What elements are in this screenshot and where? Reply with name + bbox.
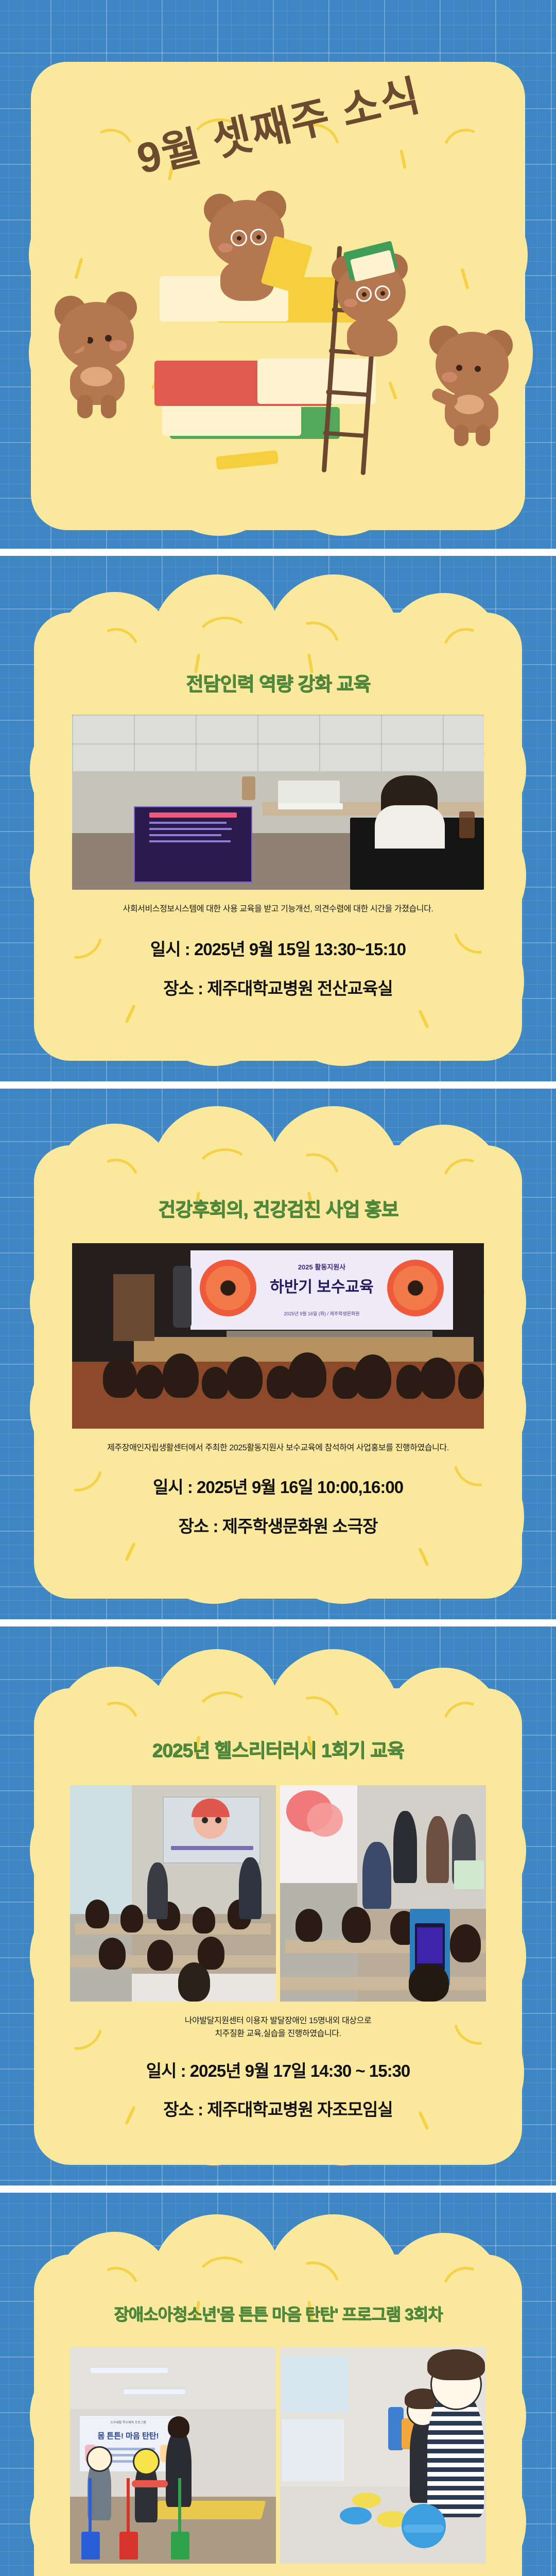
card-divider xyxy=(0,1619,556,1626)
photo-banner-line-1: 소아재활 특수체육 프로그램 xyxy=(89,2420,167,2425)
card-3-date-label: 일시 xyxy=(146,2061,177,2080)
card-1-meta: 일시 : 2025년 9월 15일 13:30~15:10 장소 : 제주대학교… xyxy=(0,937,556,1001)
card-3-place: 장소 : 제주대학교병원 자조모임실 xyxy=(0,2097,556,2123)
card-2-photo-row: 2025 활동지원사 하반기 보수교육 2025년 9월 16일 (화) / 제… xyxy=(0,1243,556,1429)
card-4-photo-row: 소아재활 특수체육 프로그램 몸 튼튼! 마음 탄탄! xyxy=(0,2347,556,2564)
card-divider xyxy=(0,549,556,556)
card-1-photo-row xyxy=(0,715,556,890)
photo-banner-line-2: 몸 튼튼! 마음 탄탄! xyxy=(83,2430,173,2441)
card-1-caption-line-1: 사회서비스정보시스템에 대한 사용 교육을 받고 기능개선, 의견수렴에 대한 … xyxy=(0,903,556,916)
card-3-place-label: 장소 xyxy=(163,2100,194,2119)
card-1-date-value: 2025년 9월 15일 13:30~15:10 xyxy=(194,940,406,959)
card-3-caption-line-1: 나야발달지원센터 이용자 발달장애인 15명내외 대상으로 xyxy=(0,2015,556,2028)
health-literacy-practice-photo xyxy=(280,1785,486,2002)
card-divider xyxy=(0,1081,556,1089)
card-2-place: 장소 : 제주학생문화원 소극장 xyxy=(0,1514,556,1539)
card-divider xyxy=(0,2185,556,2193)
card-3-title: 2025년 헬스리터러시 1회기 교육 xyxy=(0,1739,556,1762)
bear-reading-icon xyxy=(201,191,304,304)
program-session-activity-photo xyxy=(280,2347,486,2564)
news-card-3: 2025년 헬스리터러시 1회기 교육 xyxy=(0,1626,556,2185)
card-1-datetime: 일시 : 2025년 9월 15일 13:30~15:10 xyxy=(0,937,556,962)
card-3-meta: 일시 : 2025년 9월 17일 14:30 ~ 15:30 장소 : 제주대… xyxy=(0,2058,556,2123)
auditorium-lecture-photo: 2025 활동지원사 하반기 보수교육 2025년 9월 16일 (화) / 제… xyxy=(72,1243,484,1429)
bear-standing-icon xyxy=(427,314,520,443)
card-2-datetime: 일시 : 2025년 9월 16일 10:00,16:00 xyxy=(0,1475,556,1500)
computer-training-room-photo xyxy=(72,715,484,890)
bear-on-ladder-icon xyxy=(329,242,427,361)
card-2-date-value: 2025년 9월 16일 10:00,16:00 xyxy=(197,1478,403,1497)
news-card-4: 장애소아청소년'몸 튼튼 마음 탄탄' 프로그램 3회차 소아재활 특수체육 프… xyxy=(0,2193,556,2576)
card-2-caption-line-1: 제주장애인자립생활센터에서 주최한 2025활동지원사 보수교육에 참석하여 사… xyxy=(0,1442,556,1455)
card-3-place-value: 제주대학교병원 자조모임실 xyxy=(207,2100,393,2119)
card-2-title: 건강후회의, 건강검진 사업 홍보 xyxy=(0,1198,556,1222)
card-2-place-label: 장소 xyxy=(179,1517,209,1536)
card-3-photo-row xyxy=(0,1785,556,2002)
card-3-datetime: 일시 : 2025년 9월 17일 14:30 ~ 15:30 xyxy=(0,2058,556,2084)
card-2-place-value: 제주학생문화원 소극장 xyxy=(222,1517,378,1536)
news-card-2: 건강후회의, 건강검진 사업 홍보 2025 활동지원사 하반기 보수교육 20… xyxy=(0,1089,556,1619)
card-3-date-value: 2025년 9월 17일 14:30 ~ 15:30 xyxy=(190,2061,410,2080)
banner-line-3: 2025년 9월 16일 (화) / 제주학생문화원 xyxy=(268,1310,376,1317)
card-4-title: 장애소아청소년'몸 튼튼 마음 탄탄' 프로그램 3회차 xyxy=(0,2304,556,2325)
card-1-title: 전담인력 역량 강화 교육 xyxy=(0,672,556,696)
cover-card: 9월 셋째주 소식 xyxy=(0,0,556,549)
card-1-place-label: 장소 xyxy=(163,979,194,998)
pencil-icon xyxy=(216,450,279,470)
cover-title-wrap: 9월 셋째주 소식 xyxy=(0,93,556,154)
card-1-place: 장소 : 제주대학교병원 전산교육실 xyxy=(0,976,556,1002)
card-1-place-value: 제주대학교병원 전산교육실 xyxy=(207,979,393,998)
card-3-caption-line-2: 치주질환 교육,실습을 진행하였습니다. xyxy=(0,2028,556,2041)
news-card-1: 전담인력 역량 강화 교육 xyxy=(0,556,556,1081)
bear-waving-icon xyxy=(51,289,144,417)
card-1-date-label: 일시 xyxy=(150,940,181,959)
banner-line-1: 2025 활동지원사 xyxy=(268,1262,376,1272)
card-2-meta: 일시 : 2025년 9월 16일 10:00,16:00 장소 : 제주학생문… xyxy=(0,1475,556,1539)
newsletter-page: 9월 셋째주 소식 xyxy=(0,0,556,2576)
banner-line-2: 하반기 보수교육 xyxy=(268,1274,376,1297)
card-2-date-label: 일시 xyxy=(153,1478,183,1497)
program-session-group-photo: 소아재활 특수체육 프로그램 몸 튼튼! 마음 탄탄! xyxy=(70,2347,276,2564)
health-literacy-lecture-photo xyxy=(70,1785,276,2002)
